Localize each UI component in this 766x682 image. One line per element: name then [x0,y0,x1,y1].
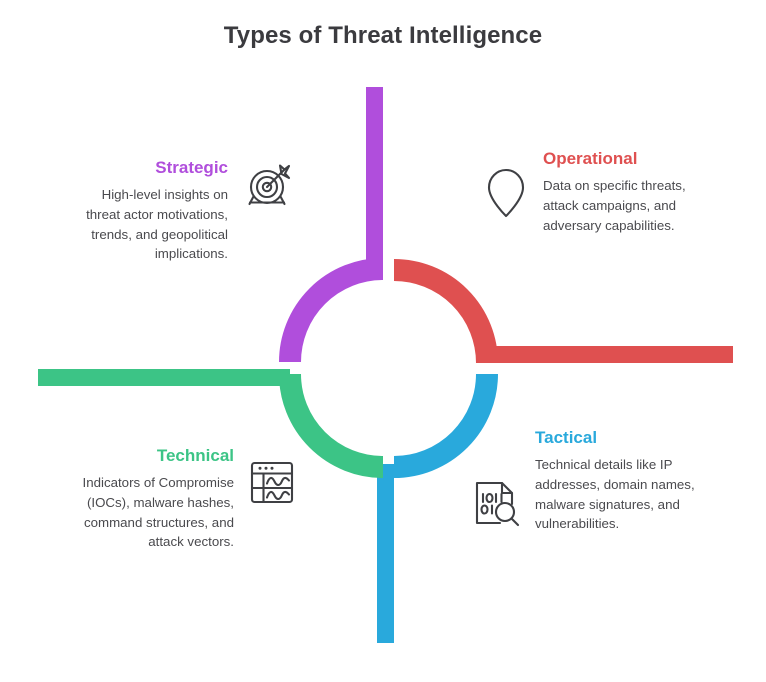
quadrant-technical-heading: Technical [157,446,234,466]
quadrant-tactical: Tactical Technical details like IP addre… [470,452,718,534]
location-pin-icon [482,167,530,223]
page-title: Types of Threat Intelligence [0,22,766,50]
threat-intelligence-diagram: Types of Threat Intelligence [0,0,766,682]
dashboard-waveform-icon [248,460,296,506]
binary-document-search-icon [470,478,522,530]
quadrant-operational-text: Operational Data on specific threats, at… [543,167,713,235]
quadrant-technical-description: Indicators of Compromise (IOCs), malware… [64,473,234,552]
target-arrow-icon [242,158,296,212]
arc-strategic [290,87,383,362]
quadrant-strategic: Strategic High-level insights on threat … [64,158,296,264]
quadrant-technical-text: Technical Indicators of Compromise (IOCs… [64,446,234,552]
quadrant-operational: Operational Data on specific threats, at… [482,167,714,235]
quadrant-technical: Technical Indicators of Compromise (IOCs… [64,446,296,552]
quadrant-strategic-description: High-level insights on threat actor moti… [64,185,228,264]
quadrant-tactical-description: Technical details like IP addresses, dom… [535,455,717,534]
quadrant-tactical-text: Tactical Technical details like IP addre… [535,452,717,534]
quadrant-strategic-text: Strategic High-level insights on threat … [64,158,228,264]
quadrant-strategic-heading: Strategic [155,158,228,178]
quadrant-tactical-heading: Tactical [535,428,597,448]
quadrant-operational-description: Data on specific threats, attack campaig… [543,176,713,235]
arc-operational [394,270,733,363]
quadrant-ring-graphic [0,0,766,682]
quadrant-operational-heading: Operational [543,149,637,169]
